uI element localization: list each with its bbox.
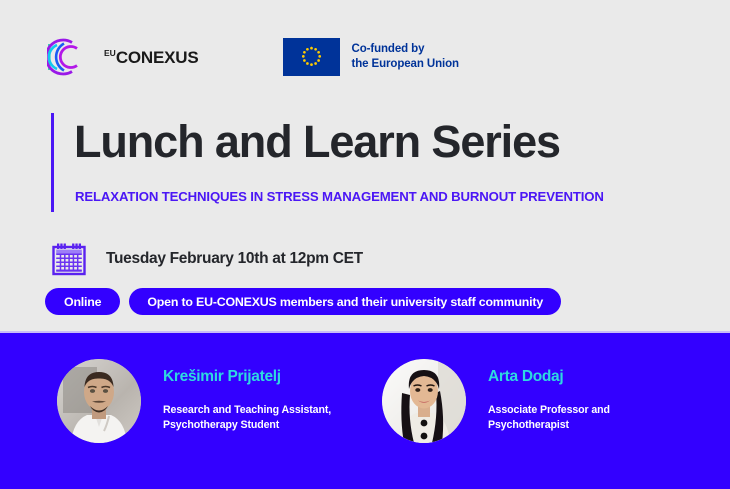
speaker-role: Research and Teaching Assistant, Psychot… [163, 403, 331, 433]
avatar [57, 359, 141, 443]
eu-flag-icon [283, 38, 340, 76]
event-datetime-text: Tuesday February 10th at 12pm CET [106, 250, 363, 268]
event-datetime-row: Tuesday February 10th at 12pm CET [50, 240, 363, 278]
tag-audience[interactable]: Open to EU-CONEXUS members and their uni… [129, 288, 561, 315]
page-title: Lunch and Learn Series [74, 118, 560, 165]
tag-online[interactable]: Online [45, 288, 120, 315]
event-poster: EUCONEXUS [0, 0, 730, 489]
poster-speakers-section: Krešimir Prijatelj Research and Teaching… [0, 333, 730, 489]
event-tags: Online Open to EU-CONEXUS members and th… [45, 288, 561, 315]
speaker-card: Krešimir Prijatelj Research and Teaching… [57, 359, 331, 443]
speaker-name: Krešimir Prijatelj [163, 369, 331, 385]
eu-funding-badge: Co-funded by the European Union [283, 38, 458, 76]
speaker-role: Associate Professor and Psychotherapist [488, 403, 610, 433]
speaker-info: Arta Dodaj Associate Professor and Psych… [488, 369, 610, 433]
conexus-eu-superscript: EU [104, 49, 116, 58]
logo-row: EUCONEXUS [47, 36, 459, 78]
speaker-name: Arta Dodaj [488, 369, 610, 385]
avatar [382, 359, 466, 443]
eu-conexus-logo: EUCONEXUS [47, 36, 198, 78]
eu-funding-line-2: the European Union [351, 57, 458, 72]
conexus-name-text: CONEXUS [116, 49, 199, 66]
conexus-arcs-icon [47, 36, 95, 78]
eu-funding-text: Co-funded by the European Union [351, 42, 458, 72]
page-subtitle: RELAXATION TECHNIQUES IN STRESS MANAGEME… [75, 189, 604, 204]
conexus-wordmark: EUCONEXUS [104, 49, 198, 66]
calendar-icon [50, 240, 88, 278]
title-accent-bar [51, 113, 54, 212]
speaker-info: Krešimir Prijatelj Research and Teaching… [163, 369, 331, 433]
speakers-list: Krešimir Prijatelj Research and Teaching… [0, 333, 730, 489]
poster-top-section: EUCONEXUS [0, 0, 730, 333]
speaker-card: Arta Dodaj Associate Professor and Psych… [382, 359, 610, 443]
eu-funding-line-1: Co-funded by [351, 42, 458, 57]
